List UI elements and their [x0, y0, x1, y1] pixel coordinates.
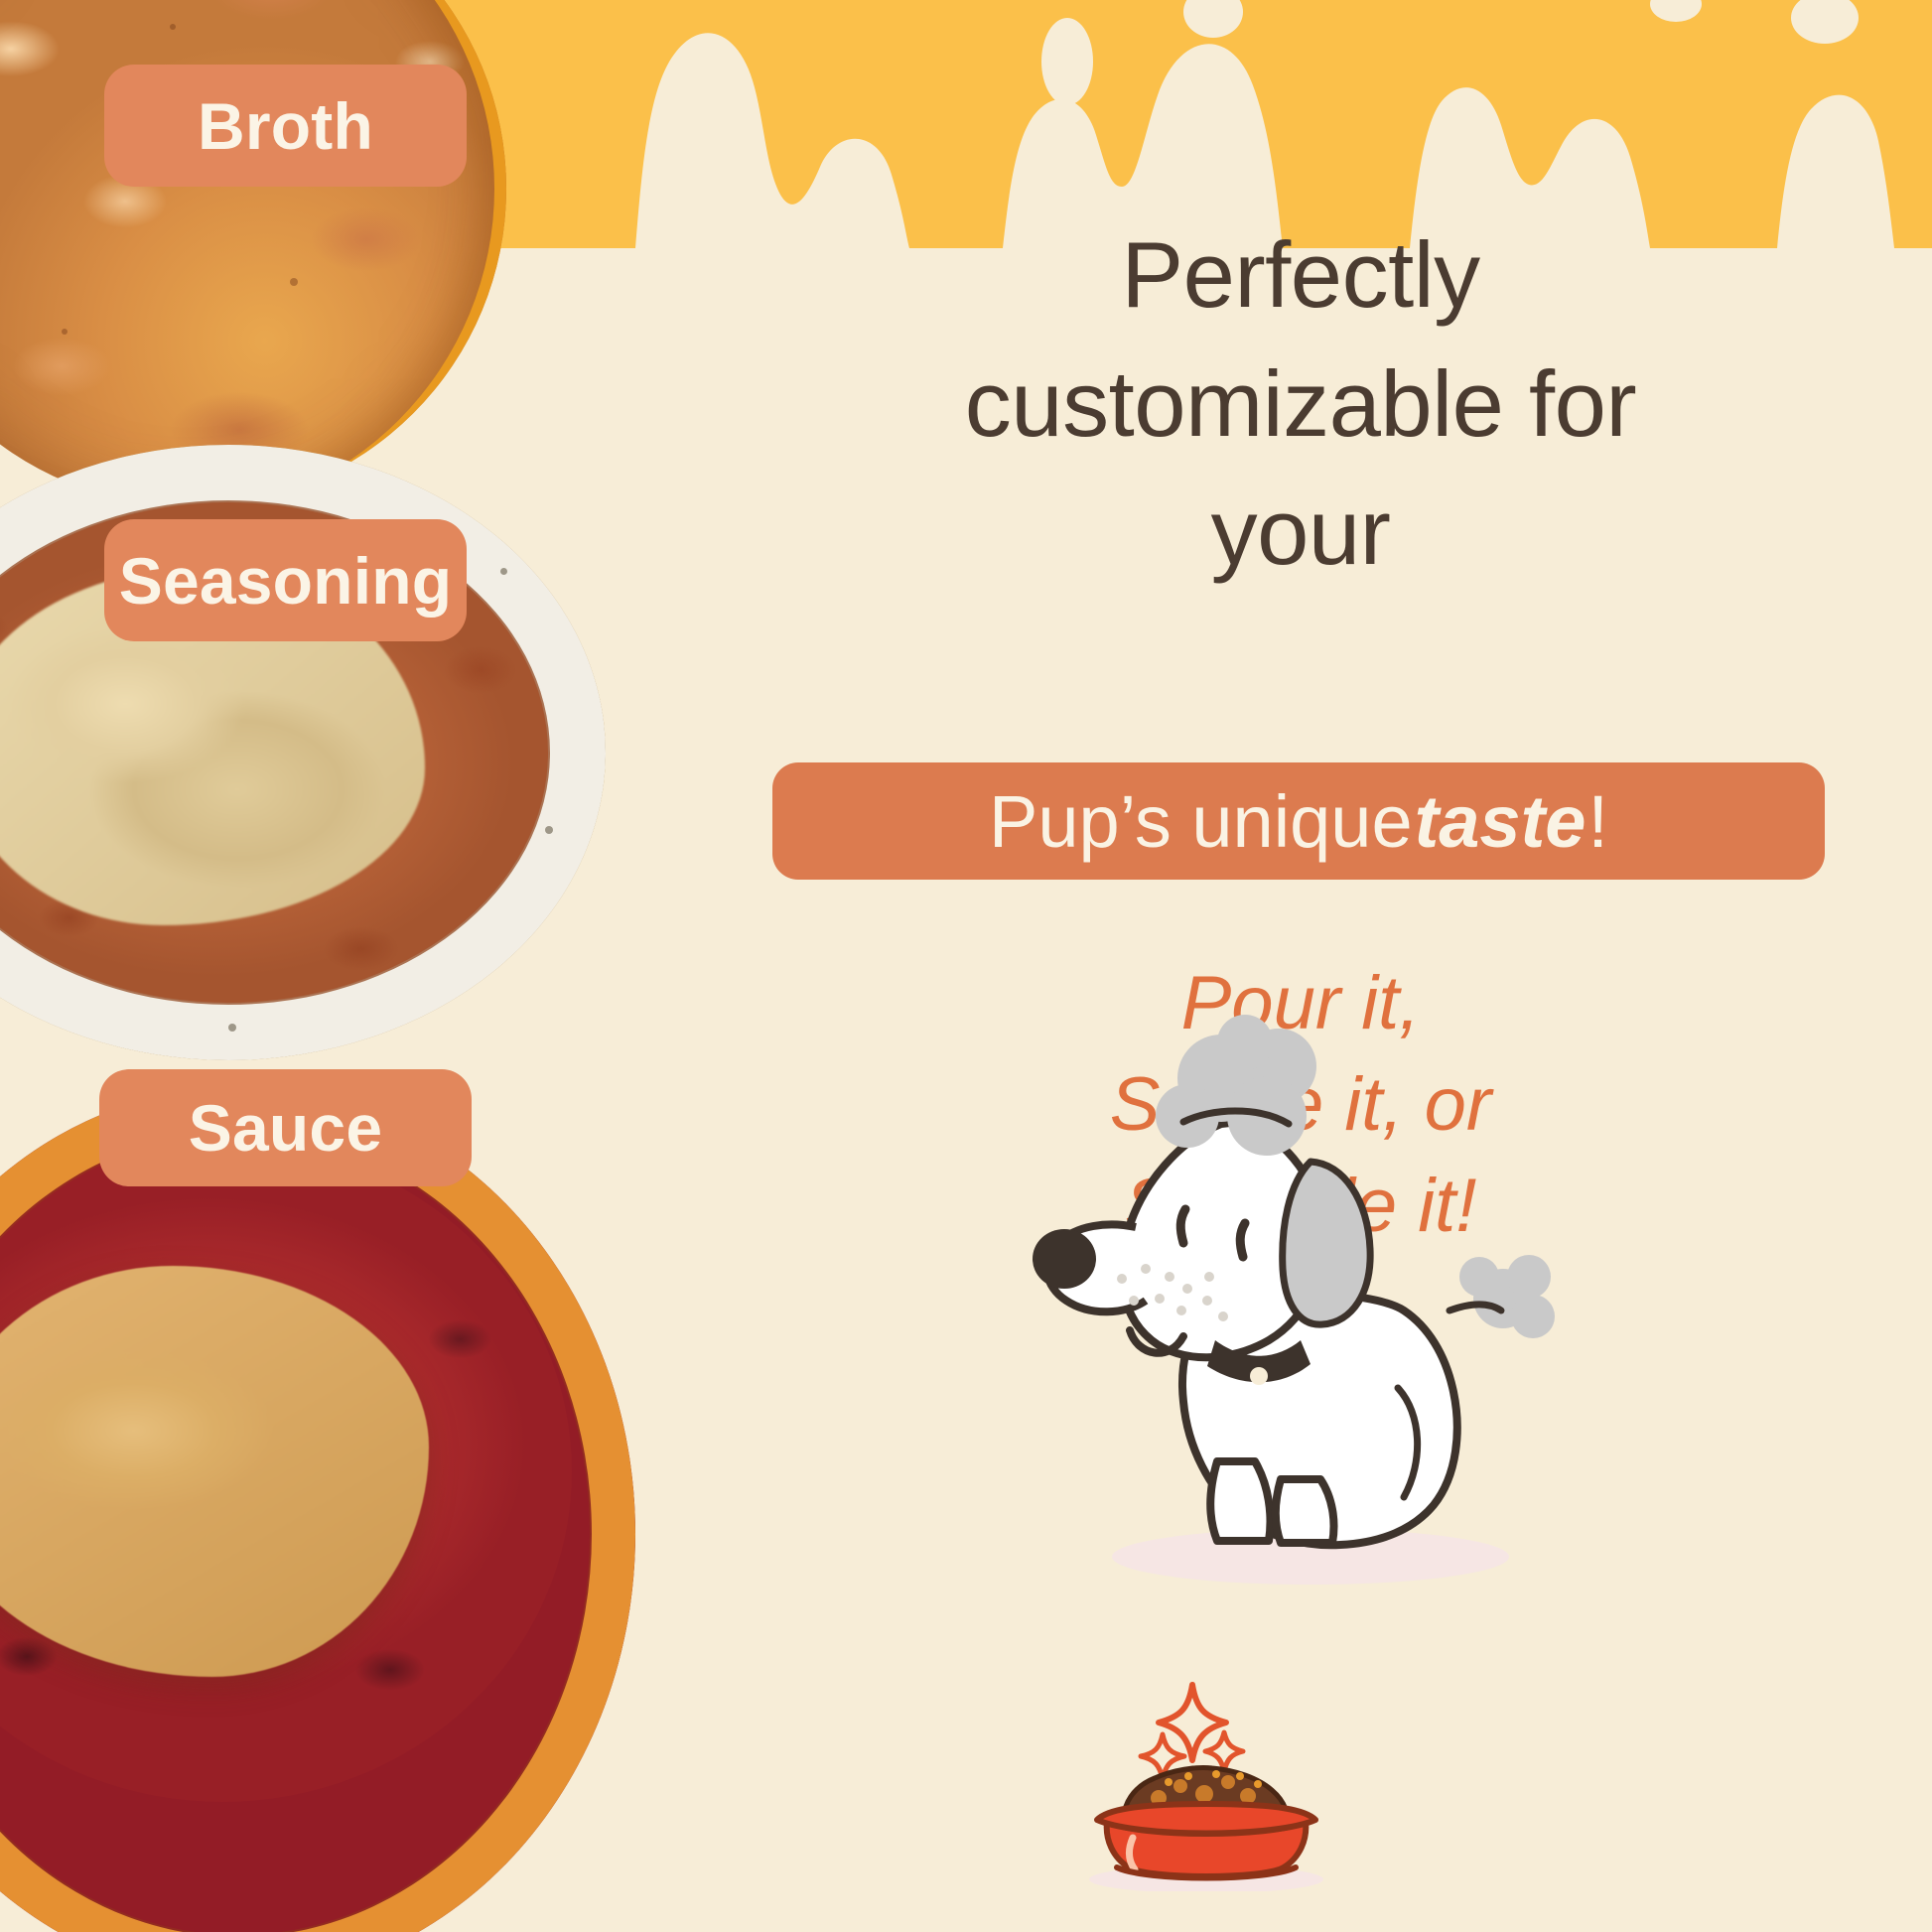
sparkle-icons — [1141, 1685, 1243, 1779]
page-title: Perfectly customizable for your — [755, 210, 1847, 597]
label-broth-text: Broth — [198, 88, 373, 164]
dog-svg — [1013, 1013, 1569, 1588]
headline-line-1: Perfectly — [755, 210, 1847, 340]
label-seasoning: Seasoning — [104, 519, 467, 641]
product-photo-column — [0, 0, 616, 1932]
dog-illustration — [1013, 1013, 1569, 1588]
headline-line-3: your — [755, 468, 1847, 597]
taste-badge-prefix: Pup’s unique — [989, 779, 1413, 864]
taste-badge-suffix: ! — [1587, 779, 1608, 864]
sauce-bowl-rim — [0, 1087, 635, 1932]
sauce-photo — [0, 1087, 635, 1932]
label-broth: Broth — [104, 65, 467, 187]
dog-food-bowl — [1077, 1643, 1335, 1891]
taste-badge-emphasis: taste — [1413, 779, 1588, 864]
label-sauce-text: Sauce — [189, 1090, 382, 1166]
taste-badge: Pup’s unique taste! — [772, 762, 1825, 880]
label-seasoning-text: Seasoning — [119, 543, 453, 619]
copy-column: Perfectly customizable for your Pup’s un… — [755, 0, 1932, 1932]
promo-canvas: Broth Seasoning Sauce Perfectly customiz… — [0, 0, 1932, 1932]
bowl-svg — [1077, 1643, 1335, 1891]
headline-line-2: customizable for — [755, 340, 1847, 469]
label-sauce: Sauce — [99, 1069, 472, 1186]
